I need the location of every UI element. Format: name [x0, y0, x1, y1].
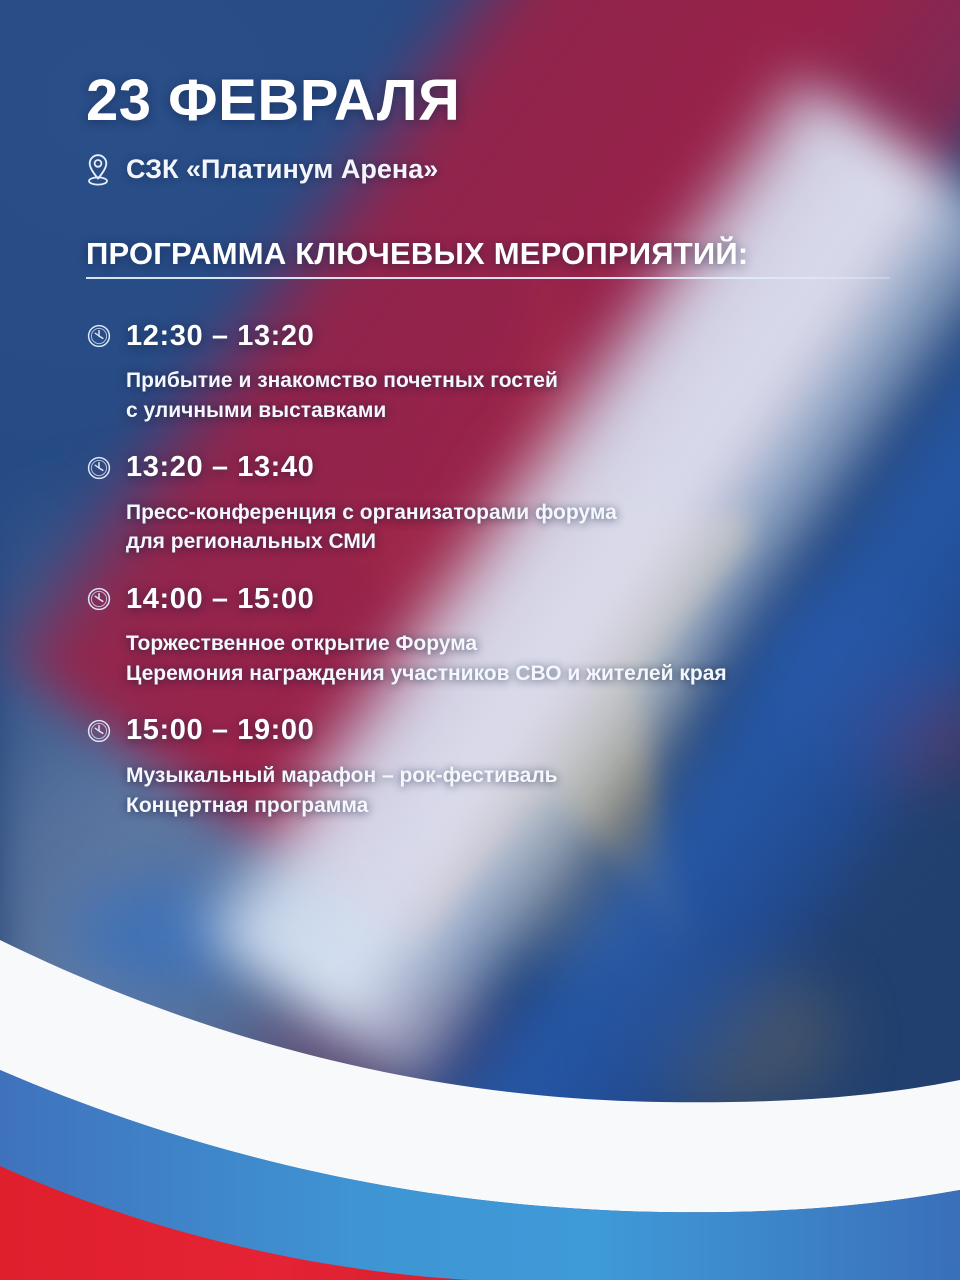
clock-icon [86, 323, 112, 349]
event-description: Прибытие и знакомство почетных гостейс у… [86, 366, 960, 426]
event-time-row: 15:00 – 19:00 [86, 711, 960, 751]
poster-content: 23 ФЕВРАЛЯ СЗК «Платинум Арена» ПРОГРАММ… [0, 0, 960, 1280]
event-description: Торжественное открытие ФорумаЦеремония н… [86, 629, 960, 689]
event-description-line: для региональных СМИ [126, 527, 960, 557]
event-time: 14:00 – 15:00 [126, 583, 314, 616]
event-time: 13:20 – 13:40 [126, 451, 314, 484]
event-description-line: с уличными выставками [126, 396, 960, 426]
schedule-event: 15:00 – 19:00Музыкальный марафон – рок-ф… [0, 711, 960, 821]
event-time: 12:30 – 13:20 [126, 320, 314, 353]
event-time-row: 12:30 – 13:20 [86, 316, 960, 356]
event-description-line: Концертная программа [126, 791, 960, 821]
event-time-row: 13:20 – 13:40 [86, 448, 960, 488]
poster-root: 23 ФЕВРАЛЯ СЗК «Платинум Арена» ПРОГРАММ… [0, 0, 960, 1280]
clock-icon [86, 718, 112, 744]
event-description-line: Пресс-конференция с организаторами форум… [126, 498, 960, 528]
clock-icon [86, 586, 112, 612]
event-description-line: Церемония награждения участников СВО и ж… [126, 659, 960, 689]
schedule-list: 12:30 – 13:20Прибытие и знакомство почет… [0, 316, 960, 843]
event-description-line: Торжественное открытие Форума [126, 629, 960, 659]
map-pin-icon [84, 152, 112, 186]
event-time: 15:00 – 19:00 [126, 714, 314, 747]
page-title: 23 ФЕВРАЛЯ [86, 72, 460, 130]
event-description: Музыкальный марафон – рок-фестивальКонце… [86, 761, 960, 821]
event-description-line: Музыкальный марафон – рок-фестиваль [126, 761, 960, 791]
event-description: Пресс-конференция с организаторами форум… [86, 498, 960, 558]
event-description-line: Прибытие и знакомство почетных гостей [126, 366, 960, 396]
venue-row: СЗК «Платинум Арена» [84, 152, 438, 186]
clock-icon [86, 455, 112, 481]
section-heading: ПРОГРАММА КЛЮЧЕВЫХ МЕРОПРИЯТИЙ: [86, 236, 748, 272]
schedule-event: 13:20 – 13:40Пресс-конференция с организ… [0, 448, 960, 558]
schedule-event: 14:00 – 15:00Торжественное открытие Фору… [0, 579, 960, 689]
event-time-row: 14:00 – 15:00 [86, 579, 960, 619]
heading-underline [86, 277, 890, 279]
venue-label: СЗК «Платинум Арена» [126, 154, 438, 185]
schedule-event: 12:30 – 13:20Прибытие и знакомство почет… [0, 316, 960, 426]
